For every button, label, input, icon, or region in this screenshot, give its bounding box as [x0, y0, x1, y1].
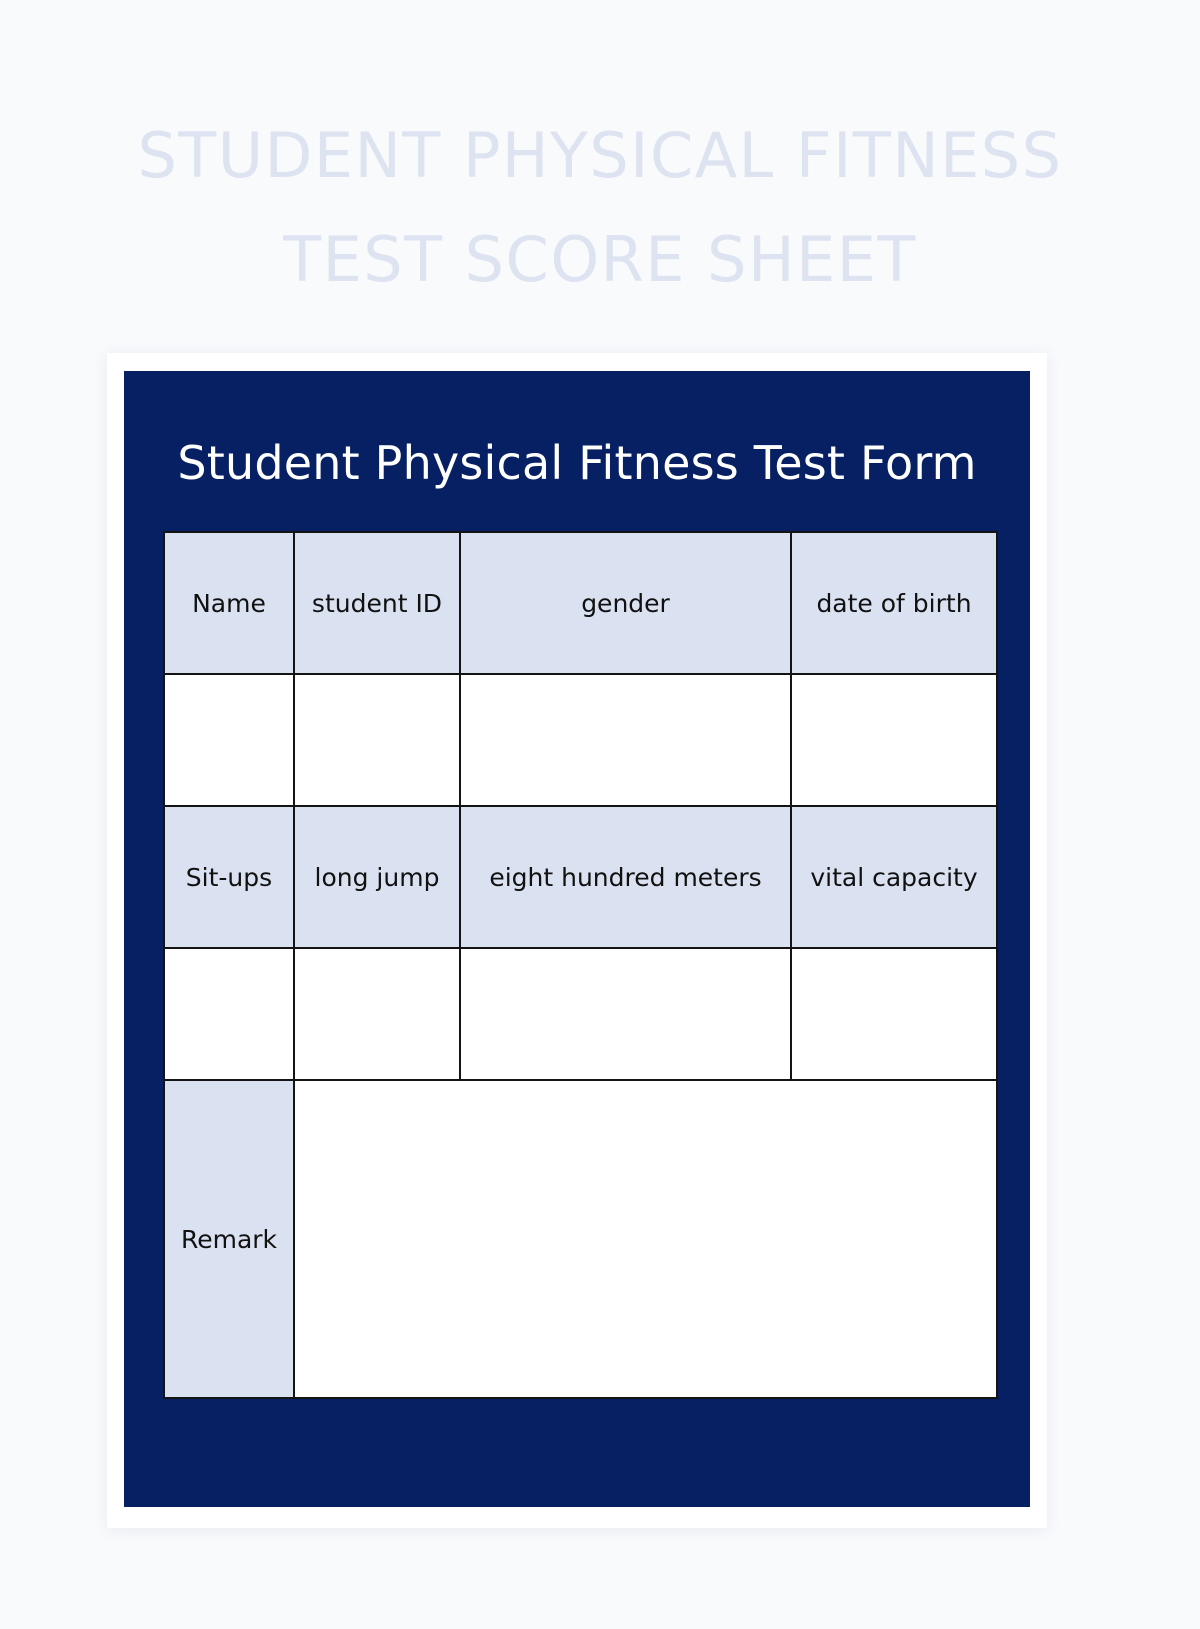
input-cell-name[interactable] — [164, 674, 294, 806]
header-cell-long-jump: long jump — [294, 806, 460, 948]
table-row-remark: Remark — [164, 1080, 997, 1398]
input-cell-sit-ups[interactable] — [164, 948, 294, 1080]
fitness-score-table: Name student ID gender date of birth Sit… — [163, 531, 998, 1399]
input-cell-student-id[interactable] — [294, 674, 460, 806]
header-cell-student-id: student ID — [294, 532, 460, 674]
header-cell-sit-ups: Sit-ups — [164, 806, 294, 948]
header-cell-eight-hundred-meters: eight hundred meters — [460, 806, 791, 948]
table-row-personal-values — [164, 674, 997, 806]
form-title: Student Physical Fitness Test Form — [177, 417, 976, 509]
table-row-personal-labels: Name student ID gender date of birth — [164, 532, 997, 674]
header-cell-gender: gender — [460, 532, 791, 674]
form-panel: Student Physical Fitness Test Form Name … — [124, 371, 1030, 1507]
input-cell-date-of-birth[interactable] — [791, 674, 997, 806]
input-cell-eight-hundred-meters[interactable] — [460, 948, 791, 1080]
input-cell-long-jump[interactable] — [294, 948, 460, 1080]
header-cell-date-of-birth: date of birth — [791, 532, 997, 674]
input-cell-vital-capacity[interactable] — [791, 948, 997, 1080]
document-card: Student Physical Fitness Test Form Name … — [107, 353, 1047, 1528]
table-row-test-labels: Sit-ups long jump eight hundred meters v… — [164, 806, 997, 948]
input-cell-gender[interactable] — [460, 674, 791, 806]
header-cell-remark: Remark — [164, 1080, 294, 1398]
header-cell-vital-capacity: vital capacity — [791, 806, 997, 948]
header-cell-name: Name — [164, 532, 294, 674]
page-title: STUDENT PHYSICAL FITNESS TEST SCORE SHEE… — [0, 104, 1200, 312]
form-header: Student Physical Fitness Test Form — [124, 417, 1030, 509]
input-cell-remark[interactable] — [294, 1080, 997, 1398]
table-row-test-values — [164, 948, 997, 1080]
